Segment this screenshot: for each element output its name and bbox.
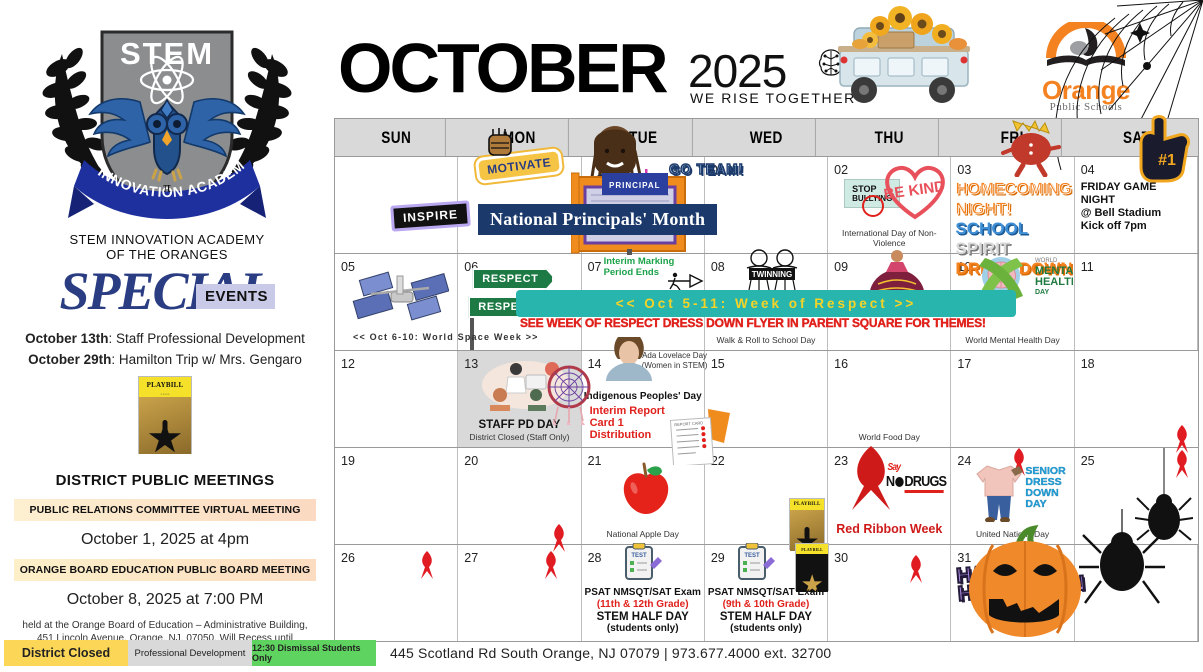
week-of-respect-subtitle: SEE WEEK OF RESPECT DRESS DOWN FLYER IN … <box>520 316 986 330</box>
day-caption: National Apple Day <box>582 529 704 539</box>
crest-stem-text: STEM <box>120 36 214 71</box>
day-cell-28[interactable]: 28 TEST PSAT NMSQT/SAT Exam (11th & 12th… <box>582 545 705 641</box>
playbill-art: ★ <box>139 397 191 454</box>
day-number: 09 <box>834 260 848 274</box>
special-events-list: October 13th: Staff Professional Develop… <box>0 328 330 370</box>
game-night-line-2: @ Bell Stadium <box>1081 207 1193 220</box>
special-event-date: October 29th <box>28 352 111 367</box>
svg-text:TEST: TEST <box>631 553 647 559</box>
red-ribbon-icon <box>844 442 898 512</box>
jack-o-lantern-icon <box>963 521 1087 639</box>
calendar-main: OCTOBER 2025 WE RISE TOGETHER <box>330 0 1203 672</box>
day-number: 28 <box>588 551 602 565</box>
day-number: 04 <box>1081 163 1095 177</box>
day-number: 16 <box>834 357 848 371</box>
month-title: OCTOBER <box>338 28 666 108</box>
crest-caption-1: STEM INNOVATION ACADEMY <box>69 232 264 247</box>
world-space-week-banner: << Oct 6-10: World Space Week >> <box>353 332 539 342</box>
day-number: 20 <box>464 454 478 468</box>
sep: : <box>111 352 119 367</box>
stem-academy-crest-icon: INNOVATION ACADEMY OF THE ORANGES π STEM… <box>28 6 306 268</box>
psat-info: PSAT NMSQT/SAT Exam (9th & 10th Grade) S… <box>705 587 827 635</box>
psat-line-3: STEM HALF DAY <box>705 611 827 623</box>
day-cell-4[interactable]: 04 #1 FRIDAY GAME NIGHT @ Bell Stadium K… <box>1075 157 1198 253</box>
day-number: 29 <box>711 551 725 565</box>
school-address: 445 Scotland Rd South Orange, NJ 07079 |… <box>390 645 831 661</box>
special-events-heading: SPECIAL EVENTS <box>0 262 330 324</box>
day-header-sun: SUN <box>347 119 446 156</box>
irc-line-1: Interim Report <box>590 405 665 417</box>
report-card-icon: REPORT CARD <box>668 409 732 465</box>
legend-dismissal: 12:30 Dismissal Students Only <box>252 640 376 666</box>
special-event-date: October 13th <box>25 331 108 346</box>
psat-line-4: (students only) <box>705 623 827 635</box>
day-cell-19[interactable]: 19 <box>335 448 458 544</box>
day-header-wed: WED <box>717 119 816 156</box>
sunflower-truck-icon <box>830 4 1006 116</box>
psat-line-2: (9th & 10th Grade) <box>705 599 827 611</box>
apple-icon <box>618 462 674 516</box>
week-of-respect-banner: << Oct 5-11: Week of Respect >> <box>516 290 1016 317</box>
be-kind-heart-icon: BE KIND <box>878 161 952 221</box>
test-clipboard-icon: TEST <box>622 543 662 581</box>
legend-professional-development: Professional Development <box>128 640 252 666</box>
playbill-label: PLAYBILL <box>794 502 821 507</box>
game-night-line-1: FRIDAY GAME NIGHT <box>1081 181 1193 207</box>
test-clipboard-icon: TEST <box>735 543 775 581</box>
day-number: 30 <box>834 551 848 565</box>
calendar-page: INNOVATION ACADEMY OF THE ORANGES π STEM… <box>0 0 1203 672</box>
crest-caption-2: OF THE ORANGES <box>106 247 228 262</box>
special-event-item: October 29th: Hamilton Trip w/ Mrs. Geng… <box>0 349 330 370</box>
dreamcatcher-icon <box>540 365 598 425</box>
space-station-icon <box>351 266 449 328</box>
casual-clothes-icon <box>975 462 1025 522</box>
svg-text:TEST: TEST <box>744 553 760 559</box>
senior-dress-down-day: SENIOR DRESS DOWN DAY <box>1025 466 1065 510</box>
special-event-text: Staff Professional Development <box>116 331 305 346</box>
principal-sign-label: PRINCIPAL <box>609 181 661 190</box>
day-caption: Walk & Roll to School Day <box>705 335 827 345</box>
svg-text:TWINNING: TWINNING <box>752 270 792 279</box>
day-cell-12[interactable]: 12 <box>335 351 458 447</box>
twinning-icon: TWINNING <box>735 246 809 294</box>
day-caption: World Mental Health Day <box>951 335 1073 345</box>
day-cell-27[interactable]: 27 <box>458 545 581 641</box>
homecoming-line-1: HOMECOMING NIGHT! <box>955 179 1075 219</box>
indigenous-peoples-day-title: Indigenous Peoples' Day <box>582 391 704 402</box>
calendar-week-5: 26 27 28 TEST <box>334 545 1199 642</box>
foam-finger-text: #1 <box>1158 152 1176 169</box>
day-number: 19 <box>341 454 355 468</box>
day-caption: World Food Day <box>828 432 950 442</box>
day-cell-2[interactable]: 02 STOP BULLYING BE KIND International D… <box>828 157 951 253</box>
district-meetings-title: DISTRICT PUBLIC MEETINGS <box>0 472 330 489</box>
day-number: 03 <box>957 163 971 177</box>
day-number: 08 <box>711 260 725 274</box>
special-events-badge: EVENTS <box>196 284 275 309</box>
day-caption: District Closed (Staff Only) <box>458 432 580 442</box>
day-cell-16[interactable]: 16 World Food Day <box>828 351 951 447</box>
board-meeting-band: ORANGE BOARD EDUCATION PUBLIC BOARD MEET… <box>14 559 316 581</box>
legend-district-closed: District Closed <box>4 640 128 666</box>
day-cell-20[interactable]: 20 <box>458 448 581 544</box>
day-caption: International Day of Non-Violence <box>828 228 950 248</box>
red-ribbon-icon <box>415 547 439 581</box>
day-number: 21 <box>588 454 602 468</box>
calendar-legend: District Closed Professional Development… <box>4 640 1199 666</box>
inspire-sticker: INSPIRE <box>391 203 470 229</box>
psat-line-2: (11th & 12th Grade) <box>582 599 704 611</box>
svg-text:DAY: DAY <box>1035 289 1049 296</box>
special-event-item: October 13th: Staff Professional Develop… <box>0 328 330 349</box>
hanging-spider-icon <box>1077 509 1167 629</box>
irc-line-2: Card 1 <box>590 417 665 429</box>
day-cell-17[interactable]: 17 <box>951 351 1074 447</box>
red-ribbon-week-title: Red Ribbon Week <box>828 522 950 536</box>
calendar-week-2: 05 06 RESPECT RESPECT <box>334 254 1199 351</box>
special-event-text: Hamilton Trip w/ Mrs. Gengaro <box>119 352 302 367</box>
day-number: 07 <box>588 260 602 274</box>
pi-symbol: π <box>163 180 171 196</box>
day-cell-11[interactable]: 11 <box>1075 254 1198 350</box>
raised-fist-icon <box>481 127 519 161</box>
day-number: 12 <box>341 357 355 371</box>
psat-line-1: PSAT NMSQT/SAT Exam <box>705 587 827 599</box>
red-ribbon-icon <box>904 551 928 585</box>
devil-mascot-icon <box>999 115 1069 177</box>
running-arrow-icon <box>668 270 704 292</box>
principals-month-banner: National Principals' Month <box>478 204 717 235</box>
sidebar: INNOVATION ACADEMY OF THE ORANGES π STEM… <box>0 0 330 672</box>
pr-committee-meeting-time: October 1, 2025 at 4pm <box>0 531 330 549</box>
day-number: 24 <box>957 454 971 468</box>
day-cell-26[interactable]: 26 <box>335 545 458 641</box>
day-number: 25 <box>1081 454 1095 468</box>
day-number: 13 <box>464 357 478 371</box>
day-cell-18[interactable]: 18 <box>1075 351 1198 447</box>
school-logo: INNOVATION ACADEMY OF THE ORANGES π STEM… <box>0 0 330 268</box>
inspire-label: INSPIRE <box>390 200 471 231</box>
sep: : <box>108 331 116 346</box>
day-number: 27 <box>464 551 478 565</box>
svg-text:WORLD: WORLD <box>1035 258 1058 264</box>
day-cell-30[interactable]: 30 <box>828 545 951 641</box>
psat-line-1: PSAT NMSQT/SAT Exam <box>582 587 704 599</box>
calendar-week-1: 01 02 STOP BULLYING BE KIND Interna <box>334 157 1199 254</box>
day-number: 26 <box>341 551 355 565</box>
ada-lovelace-portrait-icon <box>604 335 654 381</box>
red-ribbon-icon <box>539 547 563 581</box>
calendar-grid: SUN MON TUE WED THU FRI SAT 01 02 STOP <box>334 118 1199 642</box>
day-number: 11 <box>1081 260 1094 274</box>
playbill-label: PLAYBILL <box>801 547 823 552</box>
sdd-line-4: DAY <box>1025 499 1065 510</box>
calendar-header: OCTOBER 2025 WE RISE TOGETHER <box>330 0 1203 118</box>
day-cell-29[interactable]: 29 TEST PLAYBILL ★ <box>705 545 828 641</box>
interim-report-card-note: Interim Report Card 1 Distribution <box>590 405 665 441</box>
day-header-thu: THU <box>840 119 939 156</box>
homecoming-line-2a: SCHOOL <box>955 219 1028 238</box>
day-cell-23[interactable]: 23 Say N DRUGS Red Ribbon Week <box>828 448 951 544</box>
playbill-label: PLAYBILL <box>147 381 184 389</box>
playbill-poster-icon: PLAYBILL ★ <box>795 543 829 591</box>
pr-committee-meeting-band: PUBLIC RELATIONS COMMITTEE VIRTUAL MEETI… <box>14 499 316 521</box>
day-number: 18 <box>1081 357 1095 371</box>
respect-sign-1: RESPECT <box>472 268 554 290</box>
game-night-line-3: Kick off 7pm <box>1081 220 1193 233</box>
foam-finger-icon: #1 <box>1133 113 1195 183</box>
svg-text:HEALTH: HEALTH <box>1035 276 1073 288</box>
principal-sign: PRINCIPAL <box>602 173 668 195</box>
day-cell-3[interactable]: 03 HOMECOMING NIGHT! SCHOOL SPIRIT DRESS… <box>951 157 1074 253</box>
day-cell-14[interactable]: 14 Ada Lovelace Day (Women in STEM) Indi… <box>582 351 705 447</box>
psat-line-3: STEM HALF DAY <box>582 611 704 623</box>
playbill-masthead: PLAYBILL <box>139 377 191 392</box>
psat-info: PSAT NMSQT/SAT Exam (11th & 12th Grade) … <box>582 587 704 635</box>
day-number: 02 <box>834 163 848 177</box>
game-night-text: FRIDAY GAME NIGHT @ Bell Stadium Kick of… <box>1081 181 1193 233</box>
playbill-star-icon: ★ <box>146 418 184 454</box>
day-cell-13[interactable]: 13 <box>458 351 581 447</box>
playbill-poster-icon: PLAYBILL ▪ ▪ ▪ ▪ ▪ ★ <box>138 376 192 454</box>
irc-line-3: Distribution <box>590 429 665 441</box>
board-meeting-time: October 8, 2025 at 7:00 PM <box>0 591 330 609</box>
day-number: 17 <box>957 357 971 371</box>
calendar-week-3: 12 13 <box>334 351 1199 448</box>
psat-line-4: (students only) <box>582 623 704 635</box>
